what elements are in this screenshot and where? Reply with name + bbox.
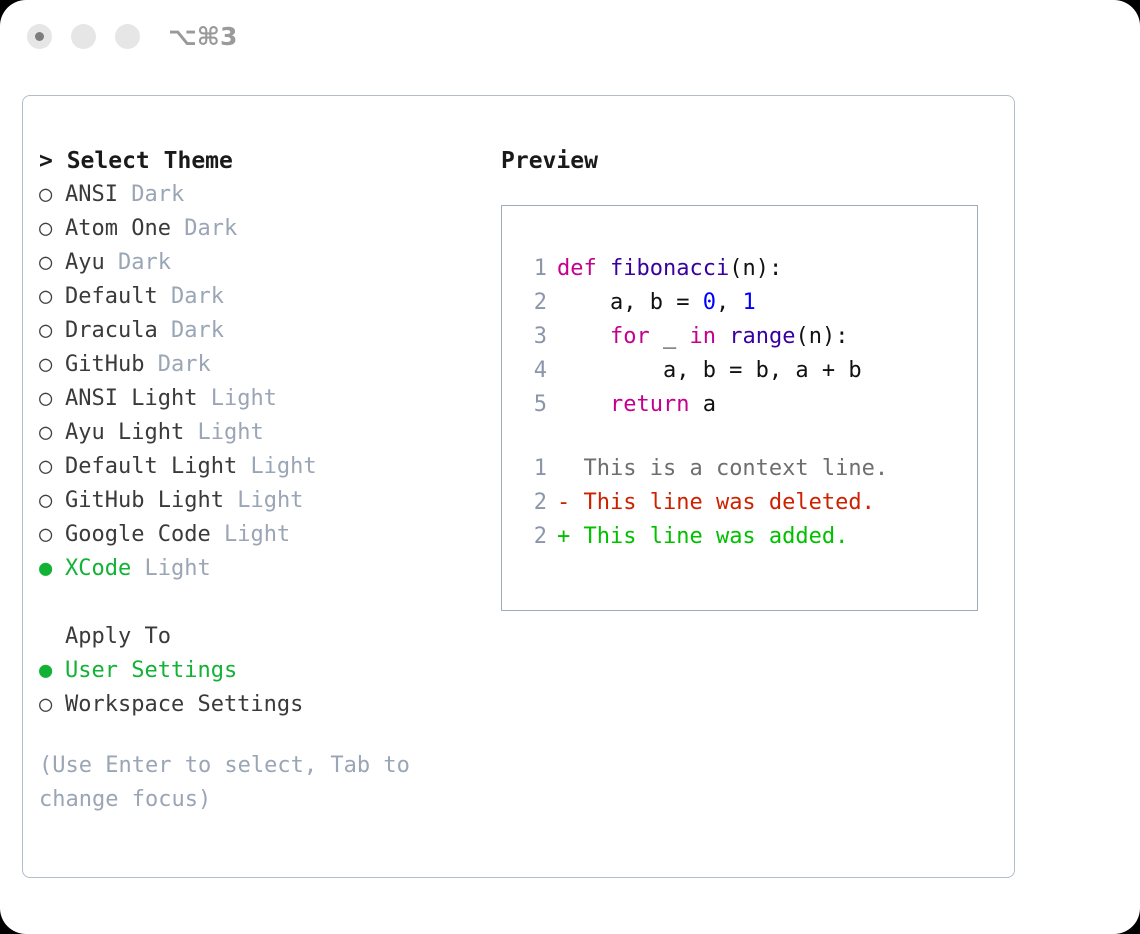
theme-option-xcode[interactable]: ●XCode Light	[39, 552, 489, 586]
code-token-pl	[716, 324, 729, 349]
diff-marker	[557, 456, 570, 481]
theme-option-kind: Light	[224, 522, 290, 547]
theme-option-ayu-light[interactable]: ○Ayu Light Light	[39, 416, 489, 450]
radio-selected-icon: ●	[39, 654, 65, 688]
code-line: 2 a, b = 0, 1	[519, 286, 888, 320]
line-number: 1	[519, 252, 547, 286]
code-token-pl: ,	[716, 290, 743, 315]
line-number: 3	[519, 320, 547, 354]
keyboard-shortcut-label: ⌥⌘3	[168, 22, 237, 51]
theme-option-default[interactable]: ○Default Dark	[39, 280, 489, 314]
theme-option-kind: Dark	[171, 318, 224, 343]
diff-line: 1 This is a context line.	[519, 452, 888, 486]
code-token-pl: a	[689, 392, 716, 417]
theme-option-list: ○ANSI Dark○Atom One Dark○Ayu Dark○Defaul…	[39, 178, 489, 586]
theme-picker-column: > Select Theme ○ANSI Dark○Atom One Dark○…	[39, 144, 489, 817]
window-controls	[27, 24, 140, 49]
theme-option-kind: Light	[237, 488, 303, 513]
theme-option-ansi[interactable]: ○ANSI Dark	[39, 178, 489, 212]
code-token-pl	[557, 324, 610, 349]
radio-unselected-icon: ○	[39, 280, 65, 314]
code-token-pl: (n):	[795, 324, 848, 349]
theme-option-label: ANSI Light	[65, 386, 197, 411]
radio-unselected-icon: ○	[39, 212, 65, 246]
apply-to-heading-indent	[39, 620, 65, 654]
theme-option-kind: Dark	[158, 352, 211, 377]
theme-option-kind: Dark	[171, 284, 224, 309]
theme-option-kind: Light	[250, 454, 316, 479]
theme-option-label: GitHub	[65, 352, 144, 377]
theme-option-ansi-light[interactable]: ○ANSI Light Light	[39, 382, 489, 416]
theme-option-label: ANSI	[65, 182, 118, 207]
code-line: 5 return a	[519, 388, 888, 422]
window-dot-active-indicator	[35, 32, 44, 41]
theme-option-github[interactable]: ○GitHub Dark	[39, 348, 489, 382]
radio-selected-icon: ●	[39, 552, 65, 586]
radio-unselected-icon: ○	[39, 314, 65, 348]
theme-option-label: Atom One	[65, 216, 171, 241]
line-number: 2	[519, 486, 547, 520]
apply-to-option-list: ●User Settings○Workspace Settings	[39, 654, 489, 722]
diff-text: This line was added.	[570, 524, 848, 549]
theme-option-label: Default	[65, 284, 158, 309]
theme-option-default-light[interactable]: ○Default Light Light	[39, 450, 489, 484]
diff-text: This line was deleted.	[570, 490, 875, 515]
window-dot-close[interactable]	[27, 24, 52, 49]
line-number: 4	[519, 354, 547, 388]
code-token-num: 1	[742, 290, 755, 315]
code-token-pl: a, b =	[557, 290, 703, 315]
radio-unselected-icon: ○	[39, 348, 65, 382]
line-number: 1	[519, 452, 547, 486]
preview-separator	[519, 422, 888, 452]
code-token-num: 0	[703, 290, 716, 315]
theme-option-kind: Dark	[131, 182, 184, 207]
diff-line: 2+ This line was added.	[519, 520, 888, 554]
code-line: 3 for _ in range(n):	[519, 320, 888, 354]
radio-unselected-icon: ○	[39, 688, 65, 722]
code-token-pl	[557, 392, 610, 417]
window-dot-maximize[interactable]	[115, 24, 140, 49]
diff-text: This is a context line.	[570, 456, 888, 481]
theme-option-label: Dracula	[65, 318, 158, 343]
select-theme-heading: > Select Theme	[39, 144, 489, 178]
preview-heading: Preview	[501, 144, 991, 178]
radio-unselected-icon: ○	[39, 246, 65, 280]
preview-box: 1def fibonacci(n):2 a, b = 0, 13 for _ i…	[501, 205, 978, 611]
apply-to-heading-label: Apply To	[65, 624, 171, 649]
radio-unselected-icon: ○	[39, 382, 65, 416]
theme-option-label: GitHub Light	[65, 488, 224, 513]
app-window: ⌥⌘3 > Select Theme ○ANSI Dark○Atom One D…	[0, 0, 1140, 934]
code-token-pl: a, b = b, a + b	[557, 358, 862, 383]
theme-option-dracula[interactable]: ○Dracula Dark	[39, 314, 489, 348]
code-line: 4 a, b = b, a + b	[519, 354, 888, 388]
keyboard-hint: (Use Enter to select, Tab to change focu…	[39, 749, 449, 817]
code-token-fn: fibonacci	[610, 256, 729, 281]
code-token-fn: range	[729, 324, 795, 349]
theme-option-kind: Dark	[184, 216, 237, 241]
theme-option-label: XCode	[65, 556, 131, 581]
code-token-kw: in	[689, 324, 716, 349]
theme-option-kind: Light	[211, 386, 277, 411]
theme-option-kind: Dark	[118, 250, 171, 275]
apply-to-option-label: User Settings	[65, 658, 237, 683]
theme-option-label: Ayu Light	[65, 420, 184, 445]
title-bar: ⌥⌘3	[0, 0, 1140, 78]
line-number: 2	[519, 286, 547, 320]
code-line: 1def fibonacci(n):	[519, 252, 888, 286]
diff-marker: +	[557, 524, 570, 549]
code-token-kw: def	[557, 256, 610, 281]
preview-column: Preview 1def fibonacci(n):2 a, b = 0, 13…	[501, 144, 991, 611]
code-token-pl: _	[650, 324, 690, 349]
code-preview: 1def fibonacci(n):2 a, b = 0, 13 for _ i…	[519, 252, 888, 554]
apply-to-option-label: Workspace Settings	[65, 692, 303, 717]
theme-option-github-light[interactable]: ○GitHub Light Light	[39, 484, 489, 518]
diff-marker: -	[557, 490, 570, 515]
line-number: 5	[519, 388, 547, 422]
theme-option-kind: Light	[144, 556, 210, 581]
theme-option-ayu[interactable]: ○Ayu Dark	[39, 246, 489, 280]
theme-option-kind: Light	[197, 420, 263, 445]
theme-option-label: Default Light	[65, 454, 237, 479]
code-token-kw: for	[610, 324, 650, 349]
apply-to-option-user-settings[interactable]: ●User Settings	[39, 654, 489, 688]
radio-unselected-icon: ○	[39, 178, 65, 212]
apply-to-option-workspace-settings[interactable]: ○Workspace Settings	[39, 688, 489, 722]
code-token-pl: (n):	[729, 256, 782, 281]
theme-option-google-code[interactable]: ○Google Code Light	[39, 518, 489, 552]
list-spacer	[39, 586, 489, 620]
theme-option-label: Ayu	[65, 250, 105, 275]
dialog-panel: > Select Theme ○ANSI Dark○Atom One Dark○…	[22, 95, 1015, 878]
radio-unselected-icon: ○	[39, 518, 65, 552]
line-number: 2	[519, 520, 547, 554]
radio-unselected-icon: ○	[39, 450, 65, 484]
radio-unselected-icon: ○	[39, 484, 65, 518]
window-dot-minimize[interactable]	[71, 24, 96, 49]
theme-option-atom-one[interactable]: ○Atom One Dark	[39, 212, 489, 246]
apply-to-heading: Apply To	[39, 620, 489, 654]
radio-unselected-icon: ○	[39, 416, 65, 450]
code-token-kw: return	[610, 392, 689, 417]
theme-option-label: Google Code	[65, 522, 211, 547]
diff-line: 2- This line was deleted.	[519, 486, 888, 520]
